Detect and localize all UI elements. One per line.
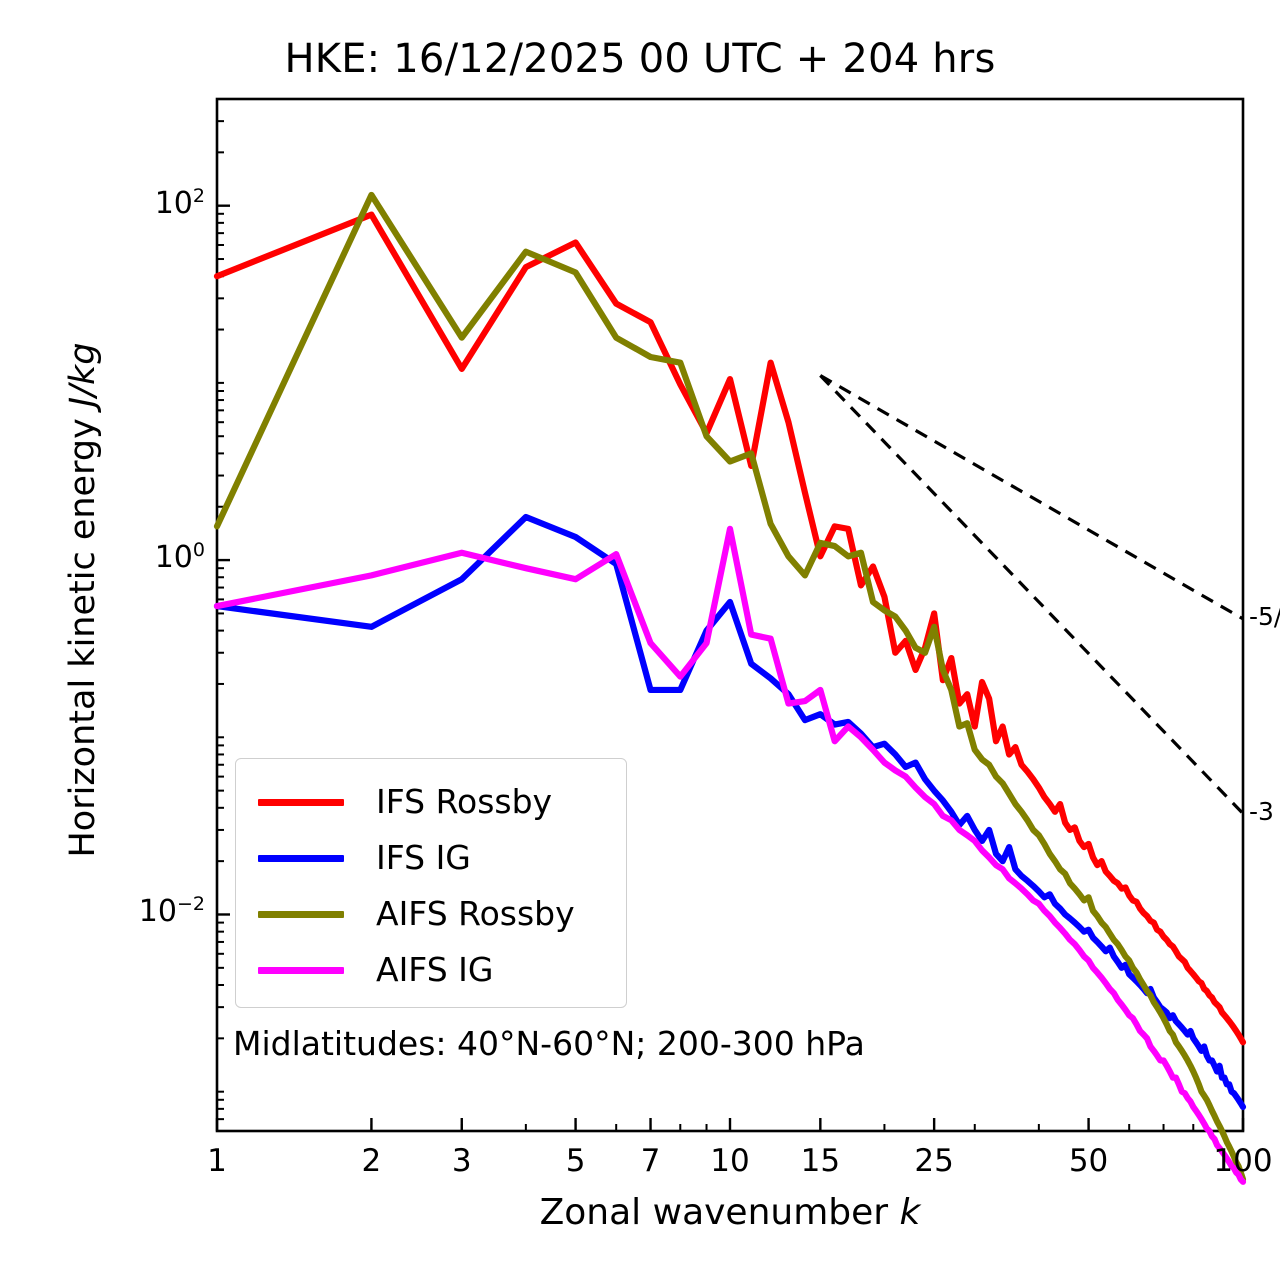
y-tick-label: 100 bbox=[95, 539, 205, 575]
legend-swatch-aifs-ig bbox=[258, 967, 344, 974]
x-tick-label: 1 bbox=[157, 1143, 277, 1179]
slope-label--3: -3 bbox=[1249, 797, 1274, 826]
x-tick-label: 100 bbox=[1183, 1143, 1280, 1179]
slope-label--5-3: -5/3 bbox=[1249, 602, 1280, 631]
legend-label-ifs-ig: IFS IG bbox=[376, 841, 471, 874]
x-tick-label: 50 bbox=[1029, 1143, 1149, 1179]
figure-root: HKE: 16/12/2025 00 UTC + 204 hrs Horizon… bbox=[0, 0, 1280, 1288]
legend-swatch-ifs-rossby bbox=[258, 799, 344, 806]
region-annotation: Midlatitudes: 40°N-60°N; 200-300 hPa bbox=[233, 1024, 865, 1063]
legend-label-aifs-ig: AIFS IG bbox=[376, 953, 493, 986]
legend-swatch-ifs-ig bbox=[258, 855, 344, 862]
legend-swatch-aifs-rossby bbox=[258, 911, 344, 918]
legend-label-aifs-rossby: AIFS Rossby bbox=[376, 897, 575, 930]
legend-label-ifs-rossby: IFS Rossby bbox=[376, 785, 552, 818]
legend: IFS RossbyIFS IGAIFS RossbyAIFS IG bbox=[235, 758, 627, 1008]
y-tick-label: 102 bbox=[95, 185, 205, 221]
x-tick-label: 3 bbox=[402, 1143, 522, 1179]
x-tick-label: 25 bbox=[874, 1143, 994, 1179]
x-tick-label: 15 bbox=[760, 1143, 880, 1179]
y-tick-label: 10−2 bbox=[95, 893, 205, 929]
